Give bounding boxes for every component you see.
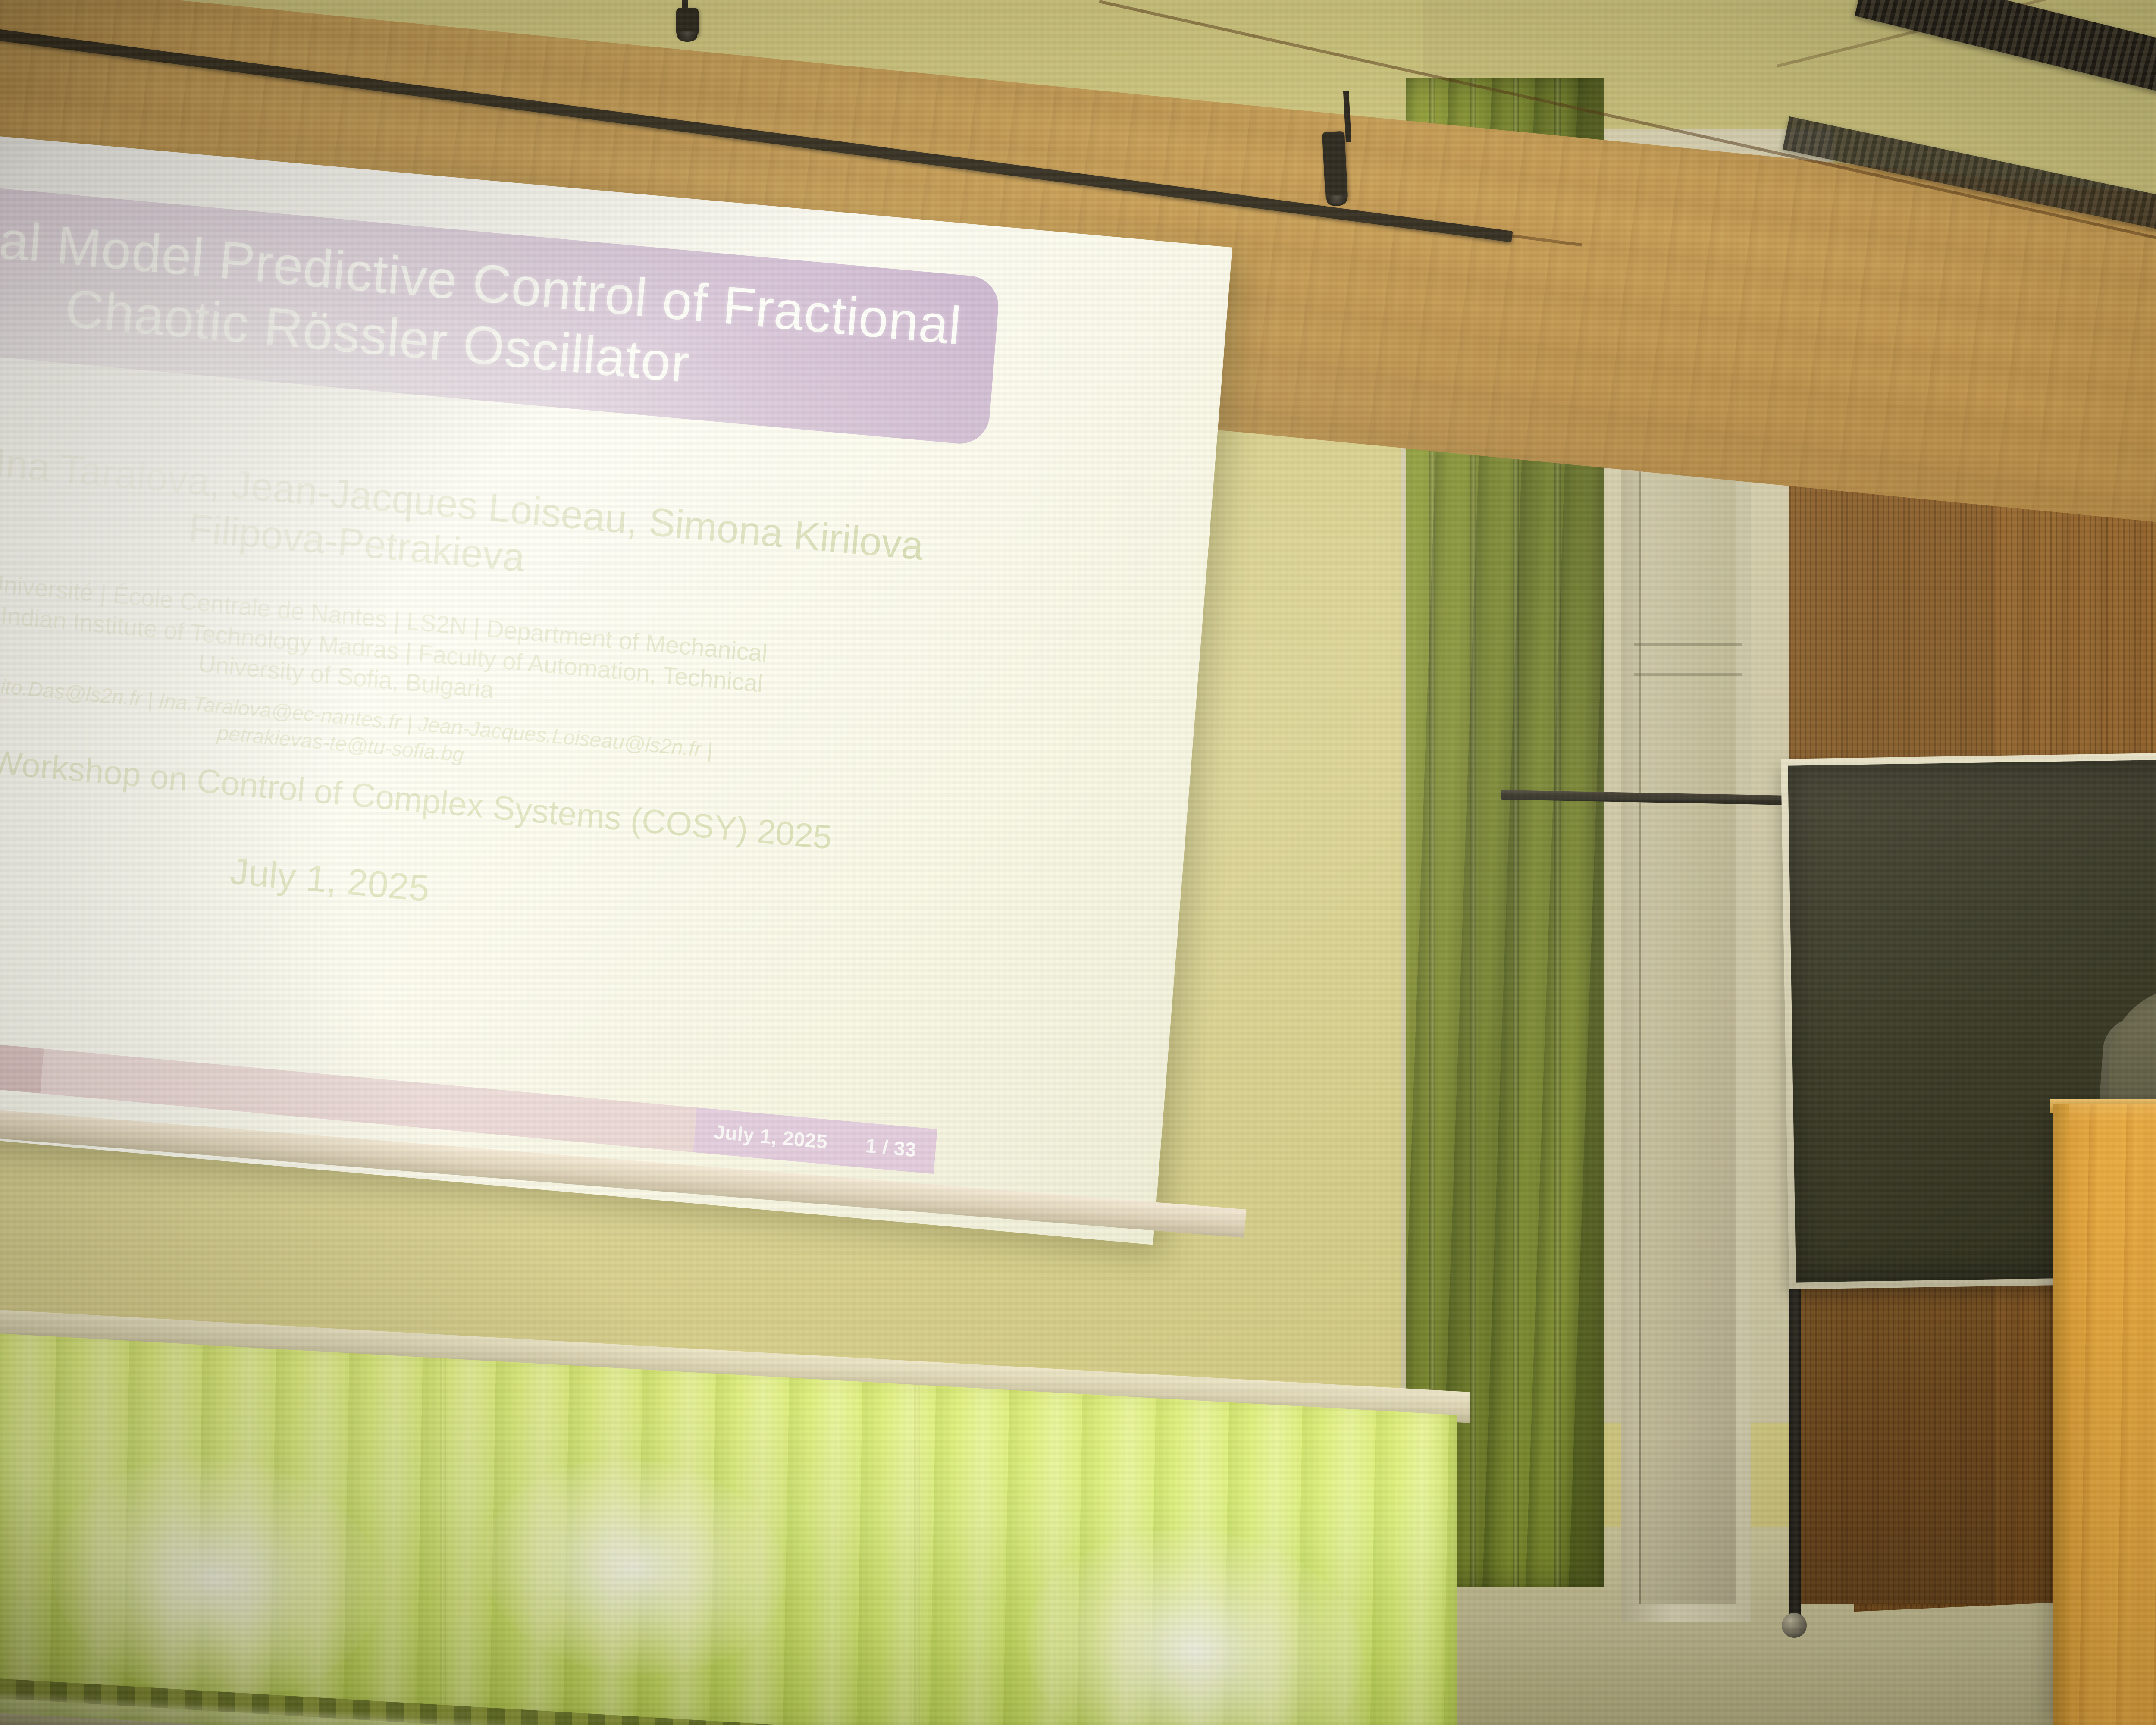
podium-left-edge [2053, 1104, 2069, 1725]
door-seam-2 [1634, 673, 1742, 676]
footer-page-number: 1 / 33 [865, 1134, 917, 1161]
chalkboard-caster-left [1782, 1613, 1807, 1638]
projection-screen: Fractional Model Predictive Control of F… [0, 129, 1232, 1245]
track-spotlight-left[interactable] [676, 8, 699, 36]
photo-scene: Fractional Model Predictive Control of F… [0, 0, 2156, 1725]
track-spotlight-center[interactable] [1322, 131, 1348, 201]
footer-date: July 1, 2025 [713, 1120, 829, 1154]
door-seam-1 [1634, 643, 1742, 646]
chalkboard-leg-left [1789, 1276, 1801, 1626]
